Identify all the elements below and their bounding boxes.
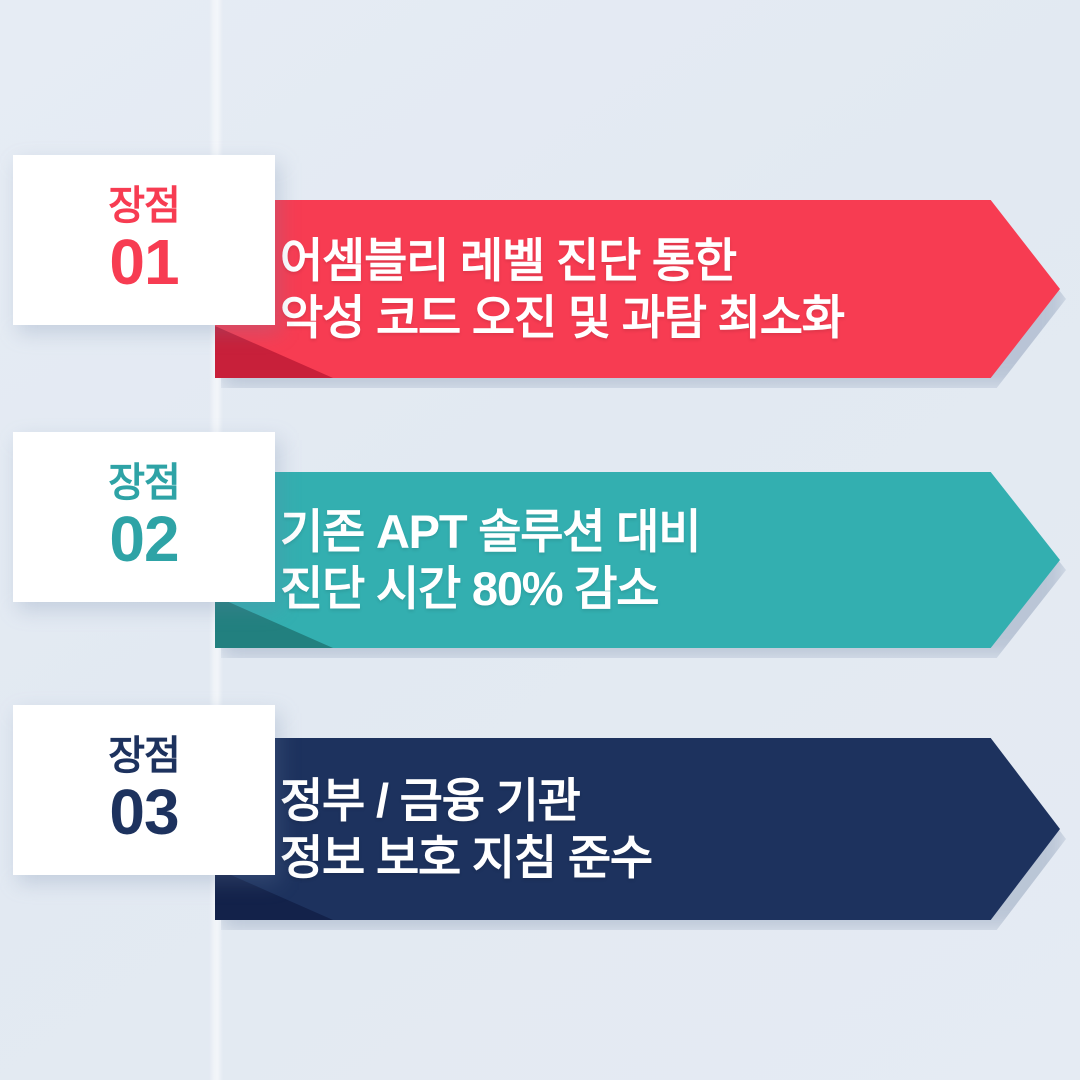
advantage-arrow-2: 기존 APT 솔루션 대비 진단 시간 80% 감소: [215, 472, 1060, 648]
advantage-card-1[interactable]: 장점 01: [13, 155, 275, 325]
arrow-body: 정부 / 금융 기관 정보 보호 지침 준수: [215, 738, 1060, 920]
advantage-row-2: 기존 APT 솔루션 대비 진단 시간 80% 감소 장점 02: [0, 432, 1080, 672]
arrow-body: 기존 APT 솔루션 대비 진단 시간 80% 감소: [215, 472, 1060, 648]
advantage-description-3: 정부 / 금융 기관 정보 보호 지침 준수: [215, 772, 652, 887]
advantage-card-label-2: 장점: [108, 463, 180, 503]
advantage-card-2[interactable]: 장점 02: [13, 432, 275, 602]
infographic-canvas: 어셈블리 레벨 진단 통한 악성 코드 오진 및 과탐 최소화 장점 01 기존…: [0, 0, 1080, 1080]
advantage-card-number-1: 01: [109, 230, 178, 294]
arrow-body: 어셈블리 레벨 진단 통한 악성 코드 오진 및 과탐 최소화: [215, 200, 1060, 378]
advantage-row-3: 정부 / 금융 기관 정보 보호 지침 준수 장점 03: [0, 705, 1080, 955]
advantage-row-1: 어셈블리 레벨 진단 통한 악성 코드 오진 및 과탐 최소화 장점 01: [0, 155, 1080, 395]
advantage-arrow-3: 정부 / 금융 기관 정보 보호 지침 준수: [215, 738, 1060, 920]
advantage-card-label-1: 장점: [108, 186, 180, 226]
advantage-arrow-1: 어셈블리 레벨 진단 통한 악성 코드 오진 및 과탐 최소화: [215, 200, 1060, 378]
advantage-description-1: 어셈블리 레벨 진단 통한 악성 코드 오진 및 과탐 최소화: [215, 232, 844, 347]
advantage-card-label-3: 장점: [108, 736, 180, 776]
advantage-card-3[interactable]: 장점 03: [13, 705, 275, 875]
advantage-card-number-2: 02: [109, 507, 178, 571]
advantage-description-2: 기존 APT 솔루션 대비 진단 시간 80% 감소: [215, 503, 700, 618]
advantage-card-number-3: 03: [109, 780, 178, 844]
advantage-list: 어셈블리 레벨 진단 통한 악성 코드 오진 및 과탐 최소화 장점 01 기존…: [0, 0, 1080, 1080]
